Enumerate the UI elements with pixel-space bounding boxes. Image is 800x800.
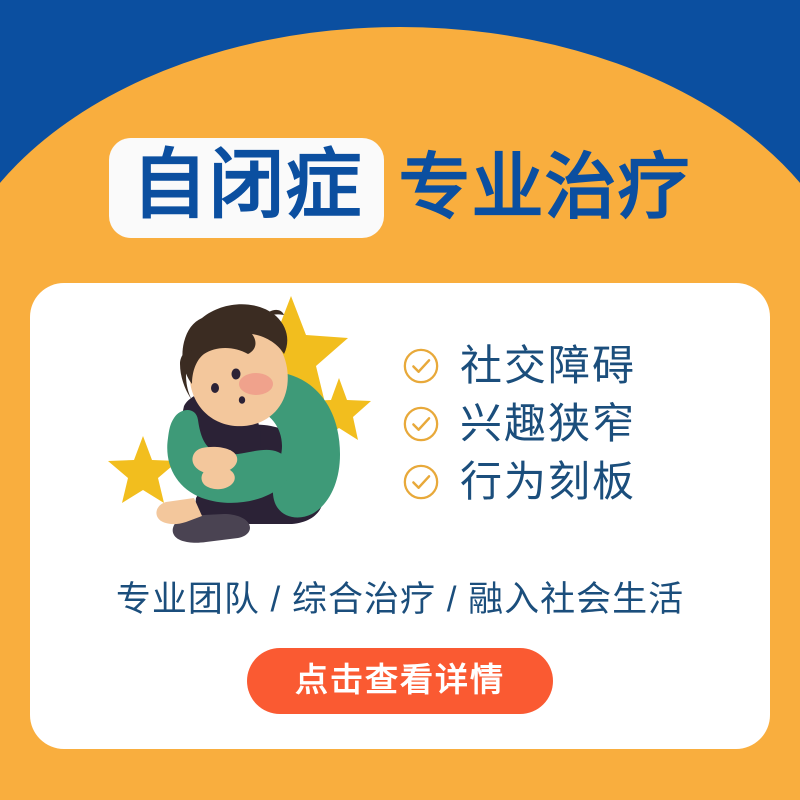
feature-item-0: 社交障碍 (402, 345, 770, 387)
cta-container: 点击查看详情 (30, 648, 770, 714)
page-subtitle-headline: 专业治疗 (398, 152, 690, 224)
card-upper-section: 社交障碍 兴趣狭窄 行为刻板 (30, 283, 770, 565)
feature-label-0: 社交障碍 (460, 345, 636, 387)
check-circle-icon (402, 463, 440, 501)
view-details-button[interactable]: 点击查看详情 (247, 648, 553, 714)
illustration-sad-child (106, 288, 396, 560)
poster-header: 自闭症 专业治疗 (0, 128, 800, 248)
poster-root: 自闭症 专业治疗 (0, 0, 800, 800)
feature-list: 社交障碍 兴趣狭窄 行为刻板 (396, 345, 770, 503)
feature-label-1: 兴趣狭窄 (460, 403, 636, 445)
feature-item-2: 行为刻板 (402, 461, 770, 503)
content-card: 社交障碍 兴趣狭窄 行为刻板 (30, 283, 770, 749)
check-circle-icon (402, 347, 440, 385)
feature-item-1: 兴趣狭窄 (402, 403, 770, 445)
page-title: 自闭症 (131, 148, 362, 224)
tagline: 专业团队 / 综合治疗 / 融入社会生活 (30, 571, 770, 622)
feature-label-2: 行为刻板 (460, 461, 636, 503)
title-badge: 自闭症 (109, 138, 384, 238)
check-circle-icon (402, 405, 440, 443)
